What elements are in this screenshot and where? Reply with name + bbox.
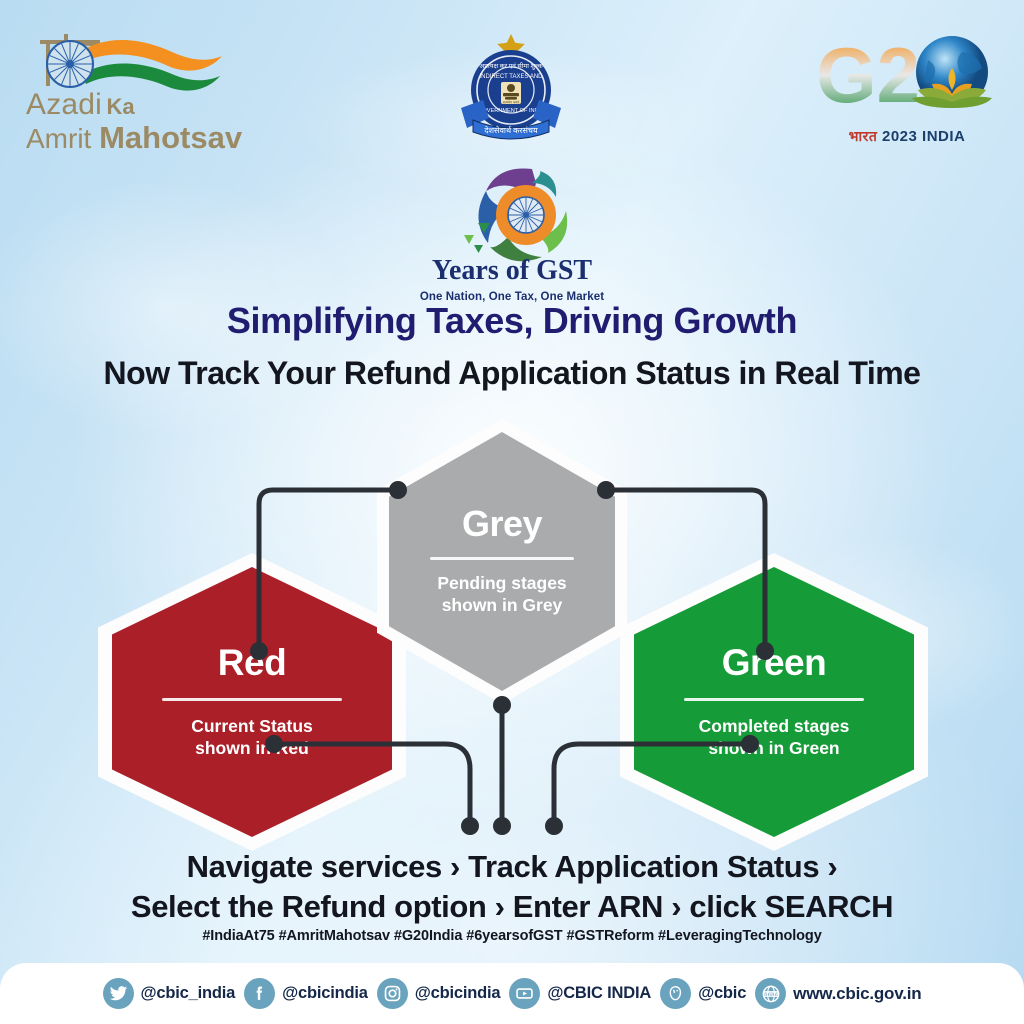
instagram-handle: @cbicindia <box>415 984 501 1003</box>
facebook-icon <box>244 978 275 1009</box>
social-facebook[interactable]: @cbicindia <box>244 978 368 1009</box>
koo-icon <box>660 978 691 1009</box>
social-instagram[interactable]: @cbicindia <box>377 978 501 1009</box>
grey-card-divider <box>430 557 575 560</box>
red-card-description: Current Status shown in Red <box>191 716 313 760</box>
globe-icon: www <box>755 978 786 1009</box>
twitter-handle: @cbic_india <box>141 984 236 1003</box>
social-youtube[interactable]: @CBIC INDIA <box>509 978 651 1009</box>
youtube-icon <box>509 978 540 1009</box>
red-card-divider <box>162 698 341 701</box>
facebook-handle: @cbicindia <box>282 984 368 1003</box>
instagram-icon <box>377 978 408 1009</box>
green-card-title: Green <box>722 644 826 681</box>
social-twitter[interactable]: @cbic_india <box>103 978 236 1009</box>
koo-handle: @cbic <box>698 984 746 1003</box>
website-url: www.cbic.gov.in <box>793 984 921 1004</box>
svg-text:www: www <box>762 990 778 997</box>
twitter-icon <box>103 978 134 1009</box>
social-footer-bar: @cbic_india @cbicindia @cbicindia <box>0 963 1024 1024</box>
social-koo[interactable]: @cbic <box>660 978 746 1009</box>
youtube-handle: @CBIC INDIA <box>547 984 651 1003</box>
grey-card-description: Pending stages shown in Grey <box>437 573 566 617</box>
green-card-description: Completed stages shown in Green <box>699 716 850 760</box>
poster-canvas: Azadi Ka Amrit Mahotsav अप्रत्यक्ष कर एव… <box>0 0 1024 1024</box>
steps-line-2: Select the Refund option › Enter ARN › c… <box>0 887 1024 927</box>
hashtags: #IndiaAt75 #AmritMahotsav #G20India #6ye… <box>0 928 1024 944</box>
navigation-steps: Navigate services › Track Application St… <box>0 847 1024 928</box>
grey-card-title: Grey <box>462 506 542 542</box>
red-card-title: Red <box>218 644 286 681</box>
green-card-divider <box>684 698 863 701</box>
steps-line-1: Navigate services › Track Application St… <box>0 847 1024 887</box>
website-link[interactable]: www www.cbic.gov.in <box>755 978 921 1009</box>
